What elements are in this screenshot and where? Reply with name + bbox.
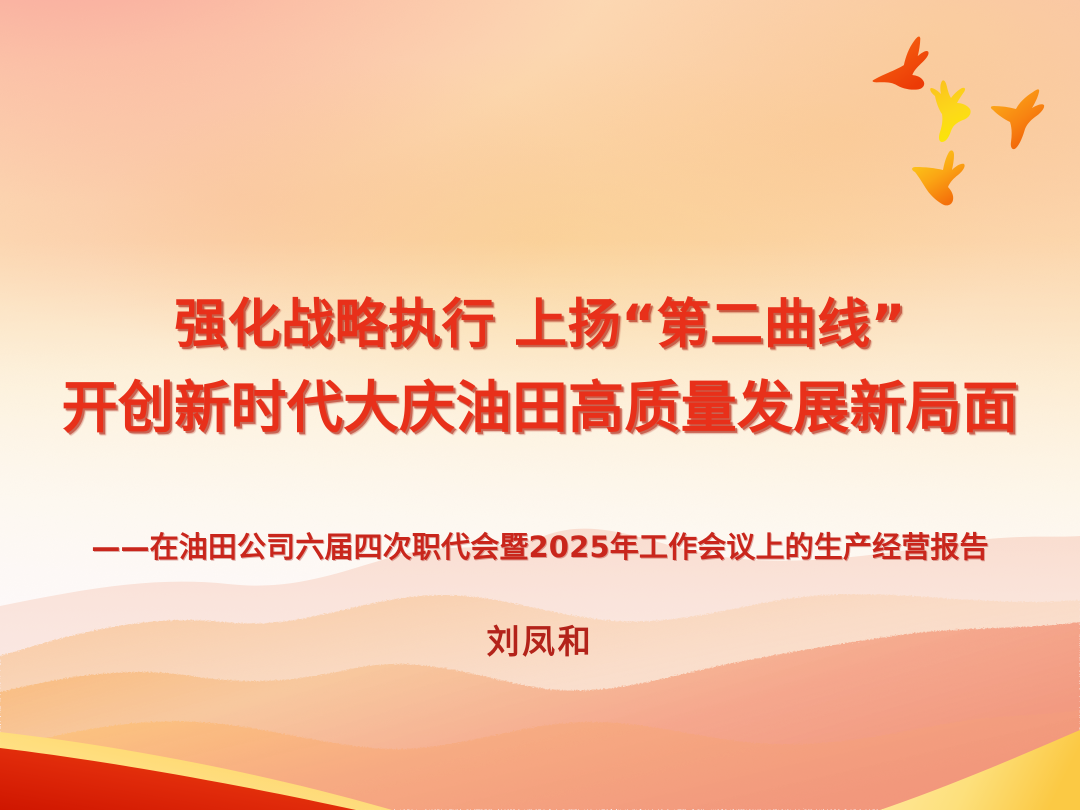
presentation-slide: 强化战略执行 上扬“第二曲线” 开创新时代大庆油田高质量发展新局面 ——在油田公… [0, 0, 1080, 810]
title-line-1: 强化战略执行 上扬“第二曲线” [0, 294, 1080, 356]
title-line-2: 开创新时代大庆油田高质量发展新局面 [0, 377, 1080, 441]
author-name: 刘凤和 [0, 620, 1080, 664]
subtitle: ——在油田公司六届四次职代会暨2025年工作会议上的生产经营报告 [0, 527, 1080, 567]
title-block: 强化战略执行 上扬“第二曲线” 开创新时代大庆油田高质量发展新局面 ——在油田公… [0, 0, 1080, 810]
